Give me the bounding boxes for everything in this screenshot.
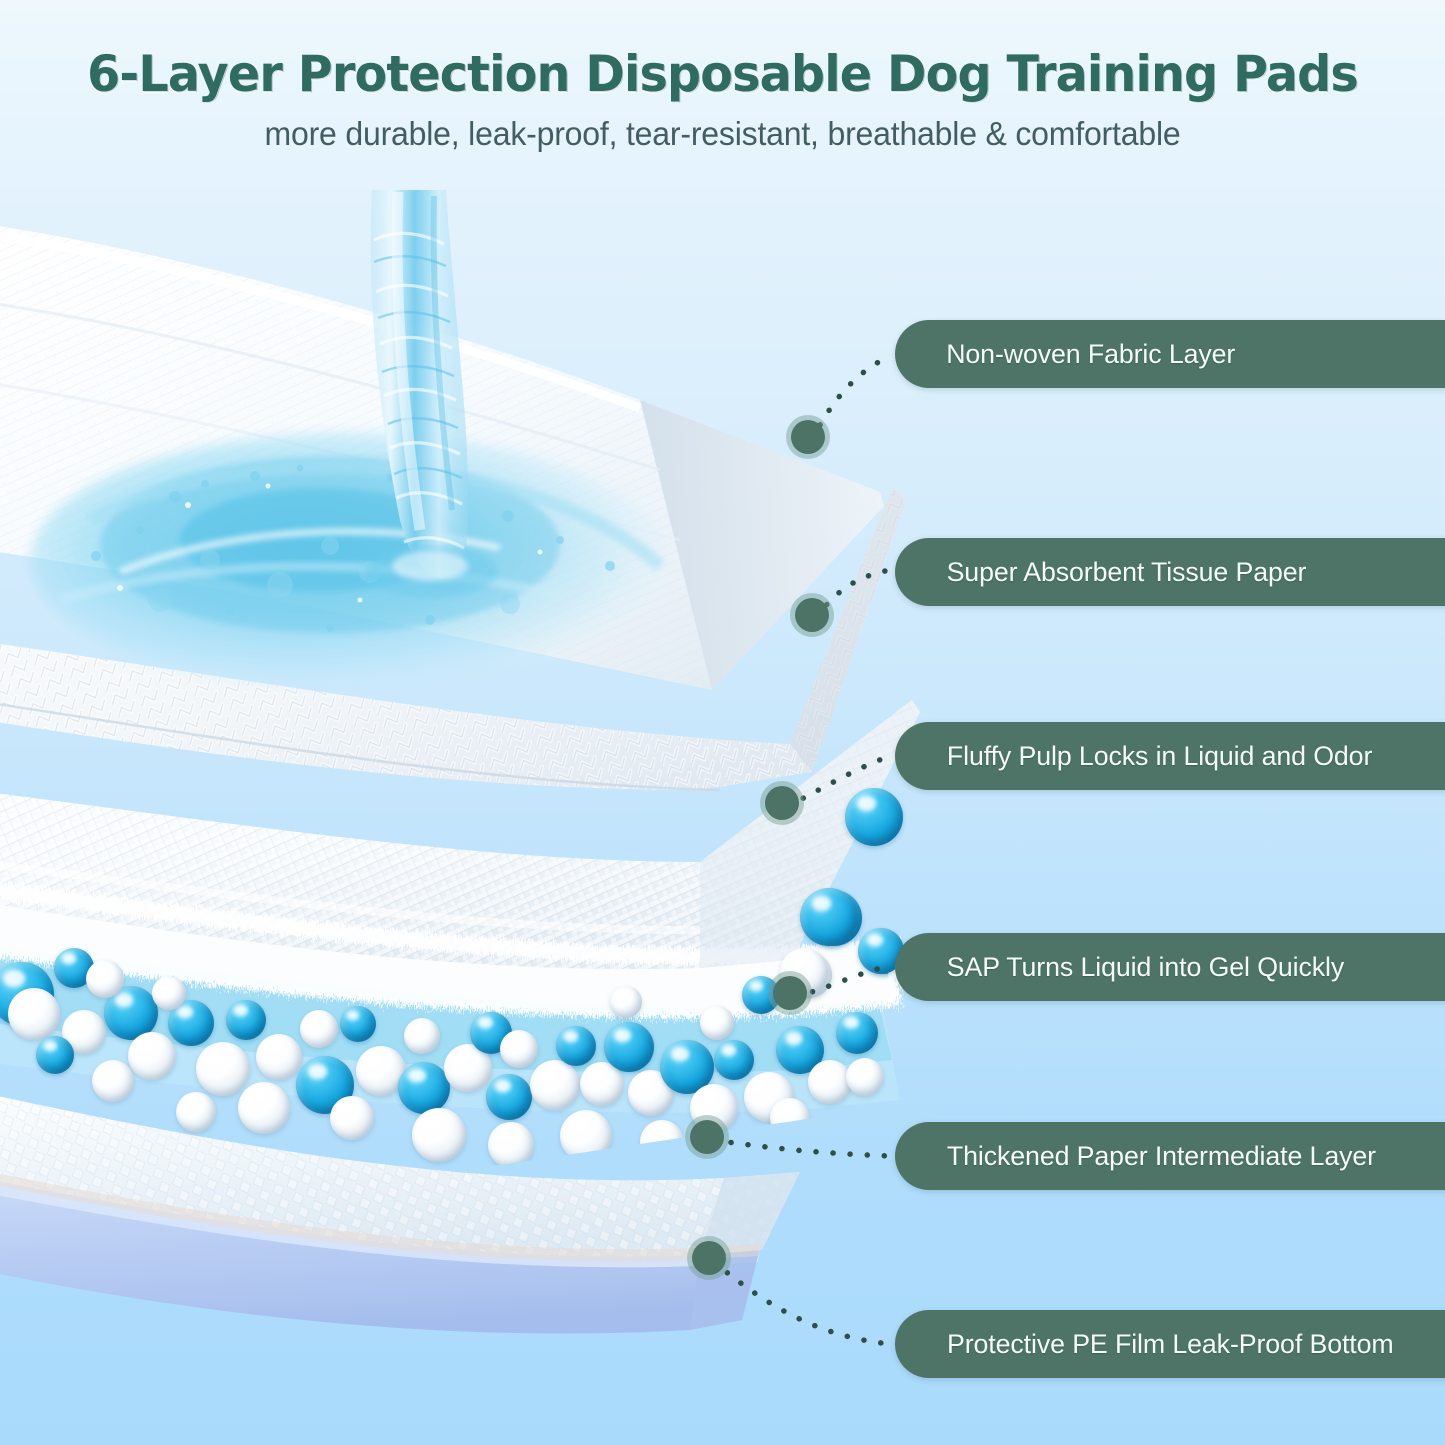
- callout-label-fluffy-pulp[interactable]: Fluffy Pulp Locks in Liquid and Odor: [895, 722, 1445, 790]
- leader-line-3: [788, 756, 890, 806]
- product-infographic: 6-Layer Protection Disposable Dog Traini…: [0, 0, 1445, 1445]
- callout-label-pe-film[interactable]: Protective PE Film Leak-Proof Bottom: [895, 1310, 1445, 1378]
- callout-label-sap-beads[interactable]: SAP Turns Liquid into Gel Quickly: [895, 933, 1445, 1001]
- callout-label-text: Thickened Paper Intermediate Layer: [897, 1141, 1376, 1172]
- callout-marker-1[interactable]: [791, 420, 825, 454]
- header: 6-Layer Protection Disposable Dog Traini…: [0, 0, 1445, 153]
- callout-label-text: Super Absorbent Tissue Paper: [897, 557, 1306, 588]
- callout-marker-3[interactable]: [765, 786, 799, 820]
- callout-label-tissue-paper[interactable]: Super Absorbent Tissue Paper: [895, 538, 1445, 606]
- callout-label-thickened-paper[interactable]: Thickened Paper Intermediate Layer: [895, 1122, 1445, 1190]
- callout-marker-2[interactable]: [795, 598, 829, 632]
- leader-line-4: [796, 966, 890, 996]
- page-subtitle: more durable, leak-proof, tear-resistant…: [22, 101, 1424, 153]
- callout-marker-6[interactable]: [692, 1241, 726, 1275]
- leader-line-6: [714, 1262, 890, 1344]
- callout-label-text: SAP Turns Liquid into Gel Quickly: [897, 952, 1344, 983]
- callout-label-text: Fluffy Pulp Locks in Liquid and Odor: [897, 741, 1372, 772]
- leader-line-1: [812, 356, 890, 440]
- callout-marker-5[interactable]: [690, 1120, 724, 1154]
- callout-group: Non-woven Fabric Layer Super Absorbent T…: [0, 0, 1445, 1445]
- callout-label-text: Protective PE Film Leak-Proof Bottom: [898, 1329, 1394, 1360]
- callout-label-text: Non-woven Fabric Layer: [897, 339, 1236, 370]
- callout-label-non-woven-fabric[interactable]: Non-woven Fabric Layer: [895, 320, 1445, 388]
- callout-marker-4[interactable]: [773, 976, 807, 1010]
- page-title: 6-Layer Protection Disposable Dog Traini…: [36, 0, 1409, 101]
- leader-line-5: [714, 1140, 890, 1156]
